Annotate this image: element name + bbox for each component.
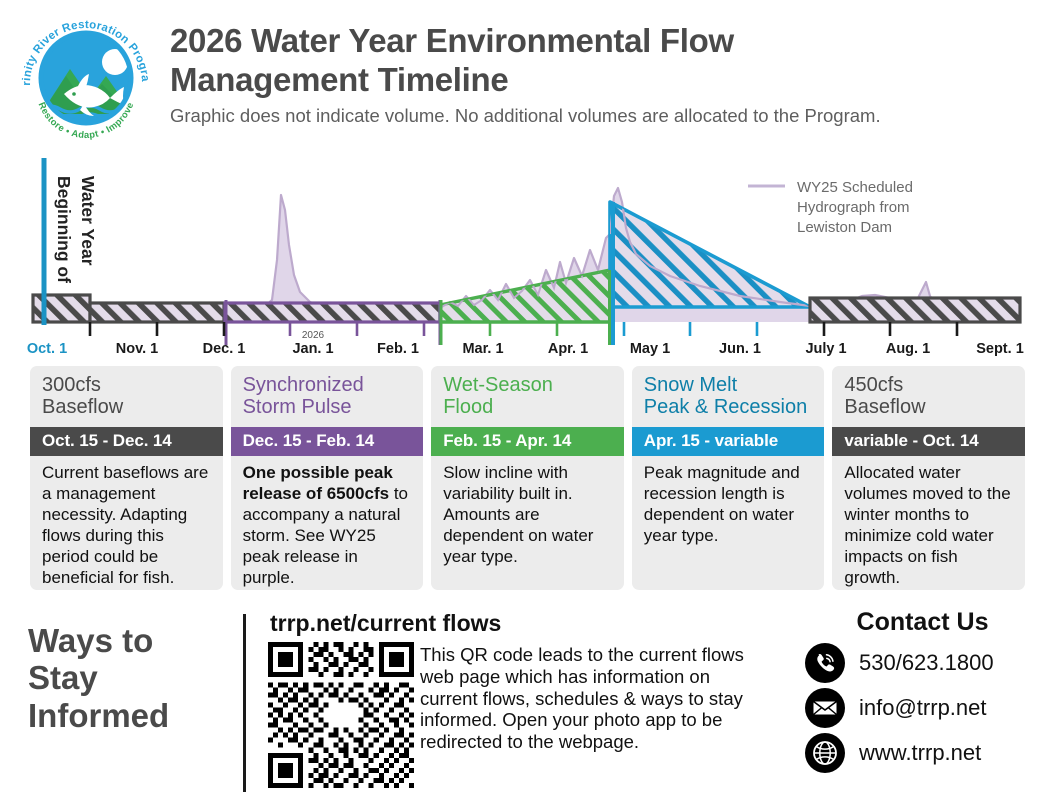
phone-icon xyxy=(805,643,845,683)
page-subtitle: Graphic does not indicate volume. No add… xyxy=(170,105,1040,127)
ways-line1: Ways to xyxy=(28,622,233,659)
card-date-band: variable - Oct. 14 xyxy=(832,427,1025,456)
phase-band-wet-season-flood xyxy=(440,234,610,322)
tick-label-1: Nov. 1 xyxy=(116,341,158,357)
contact-section: Contact Us 530/623.1800 xyxy=(805,608,1040,778)
tick-label-6: Apr. 1 xyxy=(548,341,588,357)
card-title: Snow Melt Peak & Recession xyxy=(632,366,825,427)
card-title: 300cfs Baseflow xyxy=(30,366,223,427)
card-date-band: Dec. 15 - Feb. 14 xyxy=(231,427,424,456)
phase-card-wet-season-flood: Wet-Season Flood Feb. 15 - Apr. 14 Slow … xyxy=(431,366,624,590)
card-body-text: Allocated water volumes moved to the win… xyxy=(844,463,1010,587)
card-body: One possible peak release of 6500cfs to … xyxy=(231,456,424,590)
card-title-line2: Baseflow xyxy=(844,397,1015,419)
card-body-text: Slow incline with variability built in. … xyxy=(443,463,593,566)
year-marker-label: 2026 xyxy=(302,330,325,341)
phase-cards: 300cfs Baseflow Oct. 15 - Dec. 14 Curren… xyxy=(30,366,1025,590)
chart-svg: Beginning of Water Year xyxy=(0,150,1050,365)
qr-description: This QR code leads to the current flows … xyxy=(420,644,765,753)
tick-label-8: Jun. 1 xyxy=(719,341,761,357)
tick-label-4: Feb. 1 xyxy=(377,341,419,357)
globe-icon xyxy=(805,733,845,773)
tick-label-5: Mar. 1 xyxy=(462,341,503,357)
phase-band-storm-pulse xyxy=(225,303,440,322)
trinity-river-restoration-program-logo: Trinity River Restoration Program Restor… xyxy=(18,14,164,142)
card-title-line1: Wet-Season xyxy=(443,375,614,397)
chart-tick-labels: Oct. 1 Nov. 1 Dec. 1 Jan. 1 Feb. 1 Mar. … xyxy=(27,330,1024,357)
phase-card-synchronized-storm-pulse: Synchronized Storm Pulse Dec. 15 - Feb. … xyxy=(231,366,424,590)
phase-band-300cfs-baseflow xyxy=(33,295,224,322)
flow-timeline-chart: Beginning of Water Year xyxy=(0,150,1050,365)
chart-axis xyxy=(33,322,957,336)
legend-label-line2: Hydrograph from xyxy=(797,199,910,216)
infographic-page: Trinity River Restoration Program Restor… xyxy=(0,0,1050,811)
chart-legend: WY25 Scheduled Hydrograph from Lewiston … xyxy=(748,179,913,236)
title-block: 2026 Water Year Environmental Flow Manag… xyxy=(170,22,1040,127)
email-icon xyxy=(805,688,845,728)
tick-label-3: Jan. 1 xyxy=(292,341,333,357)
water-year-start-label-line1: Beginning of xyxy=(54,176,74,283)
tick-label-0: Oct. 1 xyxy=(27,341,67,357)
card-body: Slow incline with variability built in. … xyxy=(431,456,624,576)
page-title-line1: 2026 Water Year Environmental Flow xyxy=(170,22,1040,61)
page-title-line2: Management Timeline xyxy=(170,61,1040,100)
tick-label-10: Aug. 1 xyxy=(886,341,930,357)
contact-value-website: www.trrp.net xyxy=(859,740,981,766)
card-title-line2: Baseflow xyxy=(42,397,213,419)
card-title: Wet-Season Flood xyxy=(431,366,624,427)
phase-card-300cfs-baseflow: 300cfs Baseflow Oct. 15 - Dec. 14 Curren… xyxy=(30,366,223,590)
card-title-line2: Peak & Recession xyxy=(644,397,815,419)
tick-label-9: July 1 xyxy=(805,341,846,357)
stay-informed-section: Ways to Stay Informed trrp.net/current f… xyxy=(0,600,1050,811)
contact-title: Contact Us xyxy=(805,608,1040,637)
card-title: 450cfs Baseflow xyxy=(832,366,1025,427)
tick-label-7: May 1 xyxy=(630,341,670,357)
ways-to-stay-informed-heading: Ways to Stay Informed xyxy=(28,622,233,734)
card-body-text: Current baseflows are a management neces… xyxy=(42,463,208,587)
page-title: 2026 Water Year Environmental Flow Manag… xyxy=(170,22,1040,99)
phase-card-450cfs-baseflow: 450cfs Baseflow variable - Oct. 14 Alloc… xyxy=(832,366,1025,590)
ways-line3: Informed xyxy=(28,697,233,734)
card-date-band: Feb. 15 - Apr. 14 xyxy=(431,427,624,456)
card-date-band: Oct. 15 - Dec. 14 xyxy=(30,427,223,456)
current-flows-link[interactable]: trrp.net/current flows xyxy=(270,610,501,637)
card-body-bold: One possible peak release of 6500cfs xyxy=(243,463,393,503)
tick-label-2: Dec. 1 xyxy=(203,341,246,357)
ways-line2: Stay xyxy=(28,659,233,696)
card-title-line2: Flood xyxy=(443,397,614,419)
water-year-start-label-line2: Water Year xyxy=(78,176,98,266)
header: Trinity River Restoration Program Restor… xyxy=(0,0,1050,150)
tick-label-11: Sept. 1 xyxy=(976,341,1024,357)
card-title-line2: Storm Pulse xyxy=(243,397,414,419)
card-date-band: Apr. 15 - variable xyxy=(632,427,825,456)
card-title-line1: Synchronized xyxy=(243,375,414,397)
card-title: Synchronized Storm Pulse xyxy=(231,366,424,427)
card-body: Peak magnitude and recession length is d… xyxy=(632,456,825,555)
card-body: Allocated water volumes moved to the win… xyxy=(832,456,1025,590)
contact-value-email: info@trrp.net xyxy=(859,695,987,721)
phase-band-snowmelt-peak-recession xyxy=(610,188,810,307)
card-title-line1: Snow Melt xyxy=(644,375,815,397)
phase-band-450cfs-baseflow xyxy=(810,298,1020,322)
contact-row-phone[interactable]: 530/623.1800 xyxy=(805,643,1040,683)
phase-card-snow-melt-peak-recession: Snow Melt Peak & Recession Apr. 15 - var… xyxy=(632,366,825,590)
contact-row-email[interactable]: info@trrp.net xyxy=(805,688,1040,728)
card-title-line1: 300cfs xyxy=(42,375,213,397)
qr-code[interactable] xyxy=(268,642,414,788)
card-body: Current baseflows are a management neces… xyxy=(30,456,223,590)
legend-label-line1: WY25 Scheduled xyxy=(797,179,913,196)
contact-row-website[interactable]: www.trrp.net xyxy=(805,733,1040,773)
card-body-text: Peak magnitude and recession length is d… xyxy=(644,463,800,545)
contact-value-phone: 530/623.1800 xyxy=(859,650,994,676)
vertical-divider xyxy=(243,614,246,792)
card-title-line1: 450cfs xyxy=(844,375,1015,397)
legend-label-line3: Lewiston Dam xyxy=(797,219,892,236)
